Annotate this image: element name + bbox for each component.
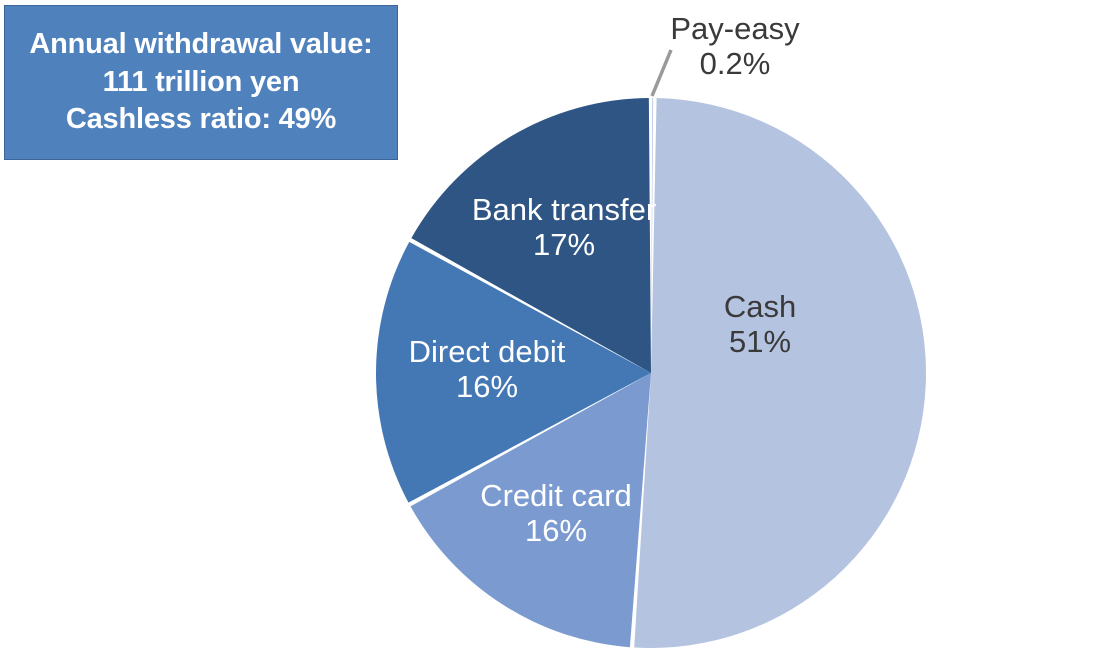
slice-label-pay-easy-name: Pay-easy	[625, 11, 845, 46]
slice-label-credit-card-name: Credit card	[443, 478, 669, 513]
slice-label-bank-transfer: Bank transfer 17%	[444, 192, 684, 262]
slice-label-bank-transfer-name: Bank transfer	[444, 192, 684, 227]
slice-label-cash-name: Cash	[665, 289, 855, 324]
slice-label-direct-debit: Direct debit 16%	[372, 334, 602, 404]
slice-label-cash-value: 51%	[665, 324, 855, 359]
slice-label-credit-card-value: 16%	[443, 513, 669, 548]
slice-label-bank-transfer-value: 17%	[444, 227, 684, 262]
pie-chart-figure: Annual withdrawal value: 111 trillion ye…	[0, 0, 1120, 668]
slice-label-direct-debit-value: 16%	[372, 369, 602, 404]
slice-label-credit-card: Credit card 16%	[443, 478, 669, 548]
pie-slice-cash[interactable]	[634, 98, 926, 648]
slice-label-pay-easy: Pay-easy 0.2%	[625, 11, 845, 81]
slice-label-direct-debit-name: Direct debit	[372, 334, 602, 369]
slice-label-pay-easy-value: 0.2%	[625, 46, 845, 81]
slice-label-cash: Cash 51%	[665, 289, 855, 359]
